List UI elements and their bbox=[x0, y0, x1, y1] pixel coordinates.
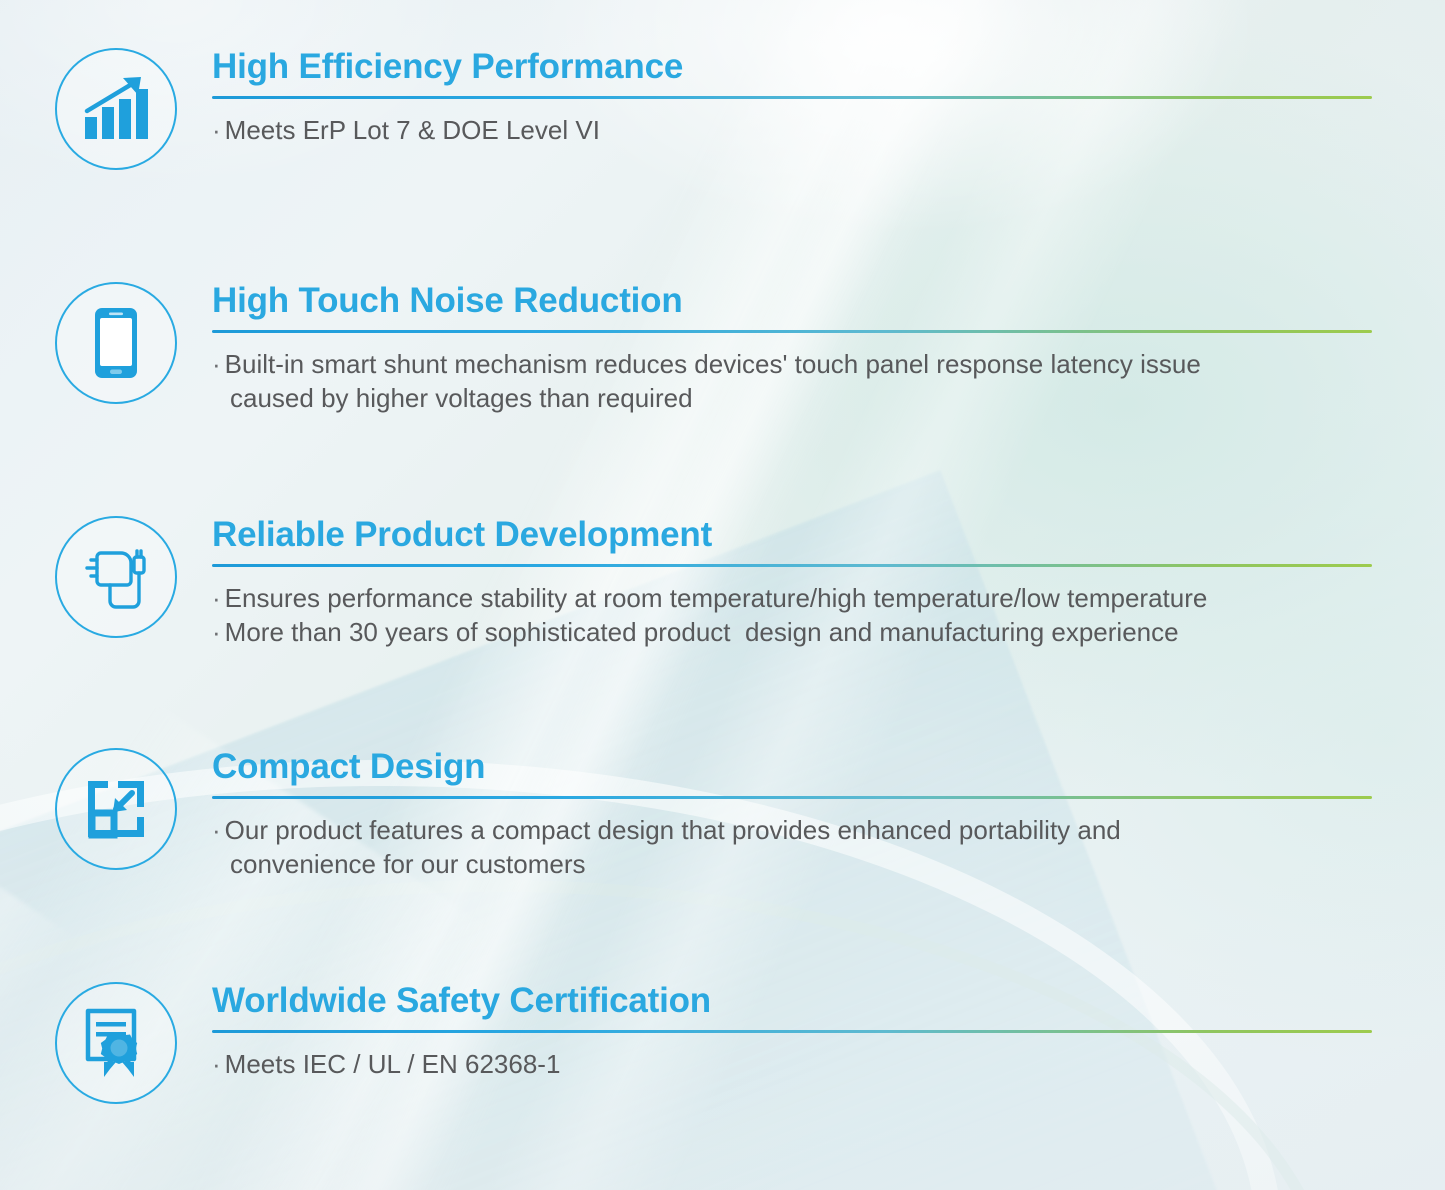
feature-title: High Touch Noise Reduction bbox=[212, 282, 1372, 320]
smartphone-icon bbox=[55, 282, 177, 404]
feature-item-reliable-product-development: Reliable Product Development ·Ensures pe… bbox=[52, 516, 1372, 649]
feature-divider bbox=[212, 96, 1372, 99]
feature-divider bbox=[212, 796, 1372, 799]
compact-resize-icon bbox=[55, 748, 177, 870]
feature-title: Reliable Product Development bbox=[212, 516, 1372, 554]
bullet-text: Ensures performance stability at room te… bbox=[225, 583, 1208, 613]
feature-item-high-touch-noise-reduction: High Touch Noise Reduction ·Built-in sma… bbox=[52, 282, 1372, 415]
feature-icon-wrap bbox=[52, 748, 180, 870]
feature-bullet-line: ·Meets ErP Lot 7 & DOE Level VI bbox=[212, 113, 1372, 147]
feature-bullets: ·Our product features a compact design t… bbox=[212, 813, 1372, 882]
feature-divider bbox=[212, 564, 1372, 567]
feature-bullets: ·Meets IEC / UL / EN 62368-1 bbox=[212, 1047, 1372, 1081]
feature-bullets: ·Meets ErP Lot 7 & DOE Level VI bbox=[212, 113, 1372, 147]
feature-title: High Efficiency Performance bbox=[212, 48, 1372, 86]
feature-bullet-line: ·Our product features a compact design t… bbox=[212, 813, 1372, 847]
certificate-seal-icon bbox=[55, 982, 177, 1104]
bullet-text: Our product features a compact design th… bbox=[225, 815, 1121, 845]
feature-icon-wrap bbox=[52, 282, 180, 404]
feature-bullet-continuation: caused by higher voltages than required bbox=[212, 381, 1372, 415]
bullet-mark: · bbox=[212, 617, 221, 647]
bullet-text-continued: convenience for our customers bbox=[212, 847, 1372, 881]
feature-divider bbox=[212, 1030, 1372, 1033]
feature-icon-wrap bbox=[52, 48, 180, 170]
feature-bullet-line: ·Meets IEC / UL / EN 62368-1 bbox=[212, 1047, 1372, 1081]
feature-body: Reliable Product Development ·Ensures pe… bbox=[212, 516, 1372, 649]
feature-item-high-efficiency-performance: High Efficiency Performance ·Meets ErP L… bbox=[52, 48, 1372, 170]
feature-divider bbox=[212, 330, 1372, 333]
bullet-text-continued: caused by higher voltages than required bbox=[212, 381, 1372, 415]
feature-bullet-continuation: convenience for our customers bbox=[212, 847, 1372, 881]
feature-body: Worldwide Safety Certification ·Meets IE… bbox=[212, 982, 1372, 1081]
feature-bullet-line: ·Built-in smart shunt mechanism reduces … bbox=[212, 347, 1372, 381]
feature-item-compact-design: Compact Design ·Our product features a c… bbox=[52, 748, 1372, 881]
bullet-text: Meets ErP Lot 7 & DOE Level VI bbox=[225, 115, 600, 145]
bullet-mark: · bbox=[212, 583, 221, 613]
feature-icon-wrap bbox=[52, 516, 180, 638]
feature-title: Compact Design bbox=[212, 748, 1372, 786]
feature-list-page: High Efficiency Performance ·Meets ErP L… bbox=[0, 0, 1445, 1190]
power-adapter-icon bbox=[55, 516, 177, 638]
feature-body: High Efficiency Performance ·Meets ErP L… bbox=[212, 48, 1372, 147]
bullet-text: More than 30 years of sophisticated prod… bbox=[225, 617, 1179, 647]
feature-body: High Touch Noise Reduction ·Built-in sma… bbox=[212, 282, 1372, 415]
feature-icon-wrap bbox=[52, 982, 180, 1104]
bullet-mark: · bbox=[212, 1049, 221, 1079]
feature-item-worldwide-safety-certification: Worldwide Safety Certification ·Meets IE… bbox=[52, 982, 1372, 1104]
bullet-text: Meets IEC / UL / EN 62368-1 bbox=[225, 1049, 561, 1079]
feature-bullets: ·Built-in smart shunt mechanism reduces … bbox=[212, 347, 1372, 416]
feature-bullet-line: ·More than 30 years of sophisticated pro… bbox=[212, 615, 1372, 649]
feature-bullets: ·Ensures performance stability at room t… bbox=[212, 581, 1372, 650]
bullet-mark: · bbox=[212, 349, 221, 379]
feature-body: Compact Design ·Our product features a c… bbox=[212, 748, 1372, 881]
bullet-mark: · bbox=[212, 815, 221, 845]
bar-chart-growth-icon bbox=[55, 48, 177, 170]
feature-bullet-line: ·Ensures performance stability at room t… bbox=[212, 581, 1372, 615]
feature-title: Worldwide Safety Certification bbox=[212, 982, 1372, 1020]
bullet-text: Built-in smart shunt mechanism reduces d… bbox=[225, 349, 1201, 379]
bullet-mark: · bbox=[212, 115, 221, 145]
